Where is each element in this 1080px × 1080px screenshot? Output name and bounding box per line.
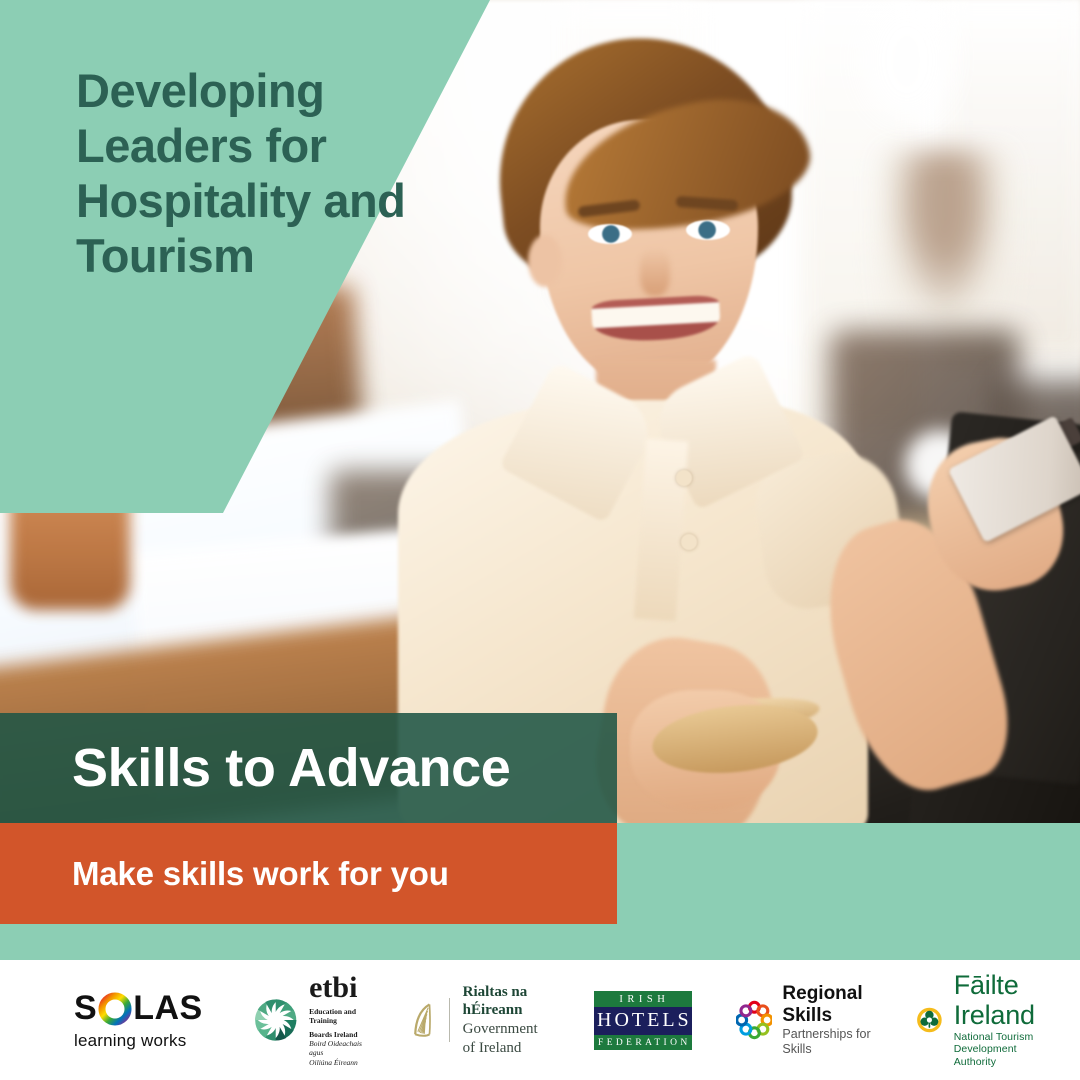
secondary-banner-text: Make skills work for you: [72, 855, 449, 893]
regional-skills-tagline: Partnerships for Skills: [782, 1027, 878, 1057]
shamrock-ring-icon: [916, 996, 943, 1044]
gov-line-english: Government of Ireland: [463, 1020, 552, 1058]
divider: [449, 998, 450, 1042]
etbi-line-1: Education and Training: [309, 1007, 370, 1026]
logo-failte-ireland: Fāilte Ireland National Tourism Developm…: [916, 971, 1060, 1068]
regional-skills-name: Regional Skills: [782, 983, 878, 1027]
regional-skills-ring-icon: [736, 994, 773, 1046]
harp-icon: [410, 992, 436, 1048]
gov-line-irish: Rialtas na hÉireann: [463, 983, 552, 1021]
logo-etbi: etbi Education and Training Boards Irela…: [251, 973, 370, 1067]
regional-skills-text-block: Regional Skills Partnerships for Skills: [782, 983, 878, 1057]
promotional-poster: Developing Leaders for Hospitality and T…: [0, 0, 1080, 1080]
solas-rainbow-o-icon: [98, 992, 132, 1026]
green-band-bottom: [0, 924, 1080, 960]
logo-solas: S LAS learning works: [74, 989, 203, 1051]
failte-text-block: Fāilte Ireland National Tourism Developm…: [954, 971, 1060, 1068]
etbi-line-4: Oiliúna Éireann: [309, 1058, 370, 1067]
page-title: Developing Leaders for Hospitality and T…: [76, 64, 436, 284]
primary-banner-text: Skills to Advance: [72, 737, 510, 799]
gov-text-block: Rialtas na hÉireann Government of Irelan…: [463, 983, 552, 1058]
solas-letters-las: LAS: [133, 989, 203, 1028]
failte-tagline: National Tourism Development Authority: [954, 1031, 1060, 1069]
partner-logo-bar: S LAS learning works: [0, 960, 1080, 1080]
logo-regional-skills: Regional Skills Partnerships for Skills: [736, 983, 878, 1057]
logo-irish-hotels-federation: IRISH HOTELS FEDERATION: [594, 991, 692, 1050]
etbi-wordmark: etbi: [309, 973, 370, 1003]
solas-wordmark: S LAS: [74, 989, 203, 1028]
solas-tagline: learning works: [74, 1031, 186, 1051]
etbi-line-2: Boards Ireland: [309, 1030, 370, 1039]
etbi-line-3: Boird Oideachais agus: [309, 1039, 370, 1058]
failte-name: Fāilte Ireland: [954, 971, 1060, 1030]
solas-letter-s: S: [74, 989, 97, 1028]
secondary-banner: Make skills work for you: [0, 823, 617, 924]
ihf-line-hotels: HOTELS: [594, 1007, 692, 1035]
etbi-text-block: etbi Education and Training Boards Irela…: [309, 973, 370, 1067]
logo-government-of-ireland: Rialtas na hÉireann Government of Irelan…: [410, 983, 552, 1058]
etbi-pinwheel-icon: [251, 989, 300, 1051]
primary-banner: Skills to Advance: [0, 713, 617, 823]
green-block-right: [617, 823, 1080, 924]
ihf-line-irish: IRISH: [594, 991, 692, 1007]
ihf-line-federation: FEDERATION: [594, 1035, 692, 1050]
